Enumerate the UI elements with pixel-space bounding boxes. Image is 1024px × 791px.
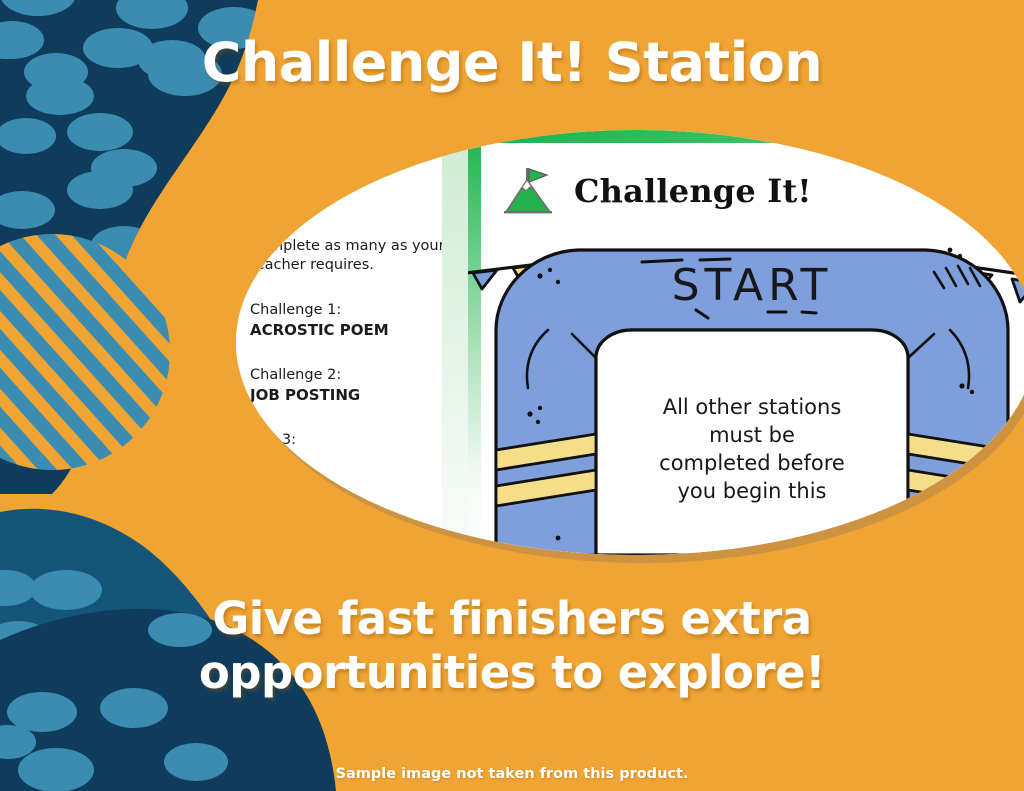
challenge-item: Challenge 2: JOB POSTING [250,366,450,405]
challenge-name: NG [250,450,450,470]
sample-image-content: challenges e from on the slides. Complet… [236,130,1024,555]
arch-message-line-1: All other stations [663,395,842,419]
challenge-it-heading: Challenge It! [502,166,812,216]
subtitle-line-2: opportunities to explore! [90,646,934,700]
start-arch-graphic: START All other stations must be complet… [468,238,1024,555]
start-arch-illustration: START All other stations must be complet… [468,238,1024,555]
arch-message-line-2: must be [709,423,795,447]
footer-disclaimer: Sample image not taken from this product… [0,766,1024,782]
worksheet-page-gutter [442,130,468,555]
intro-line-3: slides. [250,203,296,219]
worksheet-left-page: challenges e from on the slides. Complet… [236,130,450,555]
challenge-number: nge 3: [250,431,450,450]
sample-image-oval: challenges e from on the slides. Complet… [236,130,1024,555]
challenge-number: Challenge 1: [250,301,450,320]
challenge-name: JOB POSTING [250,385,450,405]
arch-message-line-4: you begin this [678,479,827,503]
subtitle-line-1: Give fast finishers extra [212,592,811,645]
intro-line-1: challenges [250,165,328,181]
challenge-item: Challenge 1: ACROSTIC POEM [250,301,450,340]
promo-subtitle: Give fast finishers extra opportunities … [0,592,1024,700]
page-top-border [468,130,1024,143]
left-page-instruction: Complete as many as your teacher require… [250,237,450,275]
challenge-it-title: Challenge It! [574,172,812,210]
intro-line-2: e from on the [250,184,348,200]
slide-canvas: Challenge It! Station challenges e from … [0,0,1024,791]
arch-message-line-3: completed before [659,451,845,475]
challenge-number: Challenge 2: [250,366,450,385]
challenge-name: ACROSTIC POEM [250,320,450,340]
mountain-flag-icon [502,166,554,216]
left-page-intro: challenges e from on the slides. [250,164,450,221]
page-title: Challenge It! Station [0,32,1024,94]
start-label: START [672,260,833,311]
worksheet-right-page: Challenge It! [468,130,1024,555]
challenge-item: nge 3: NG [250,431,450,470]
